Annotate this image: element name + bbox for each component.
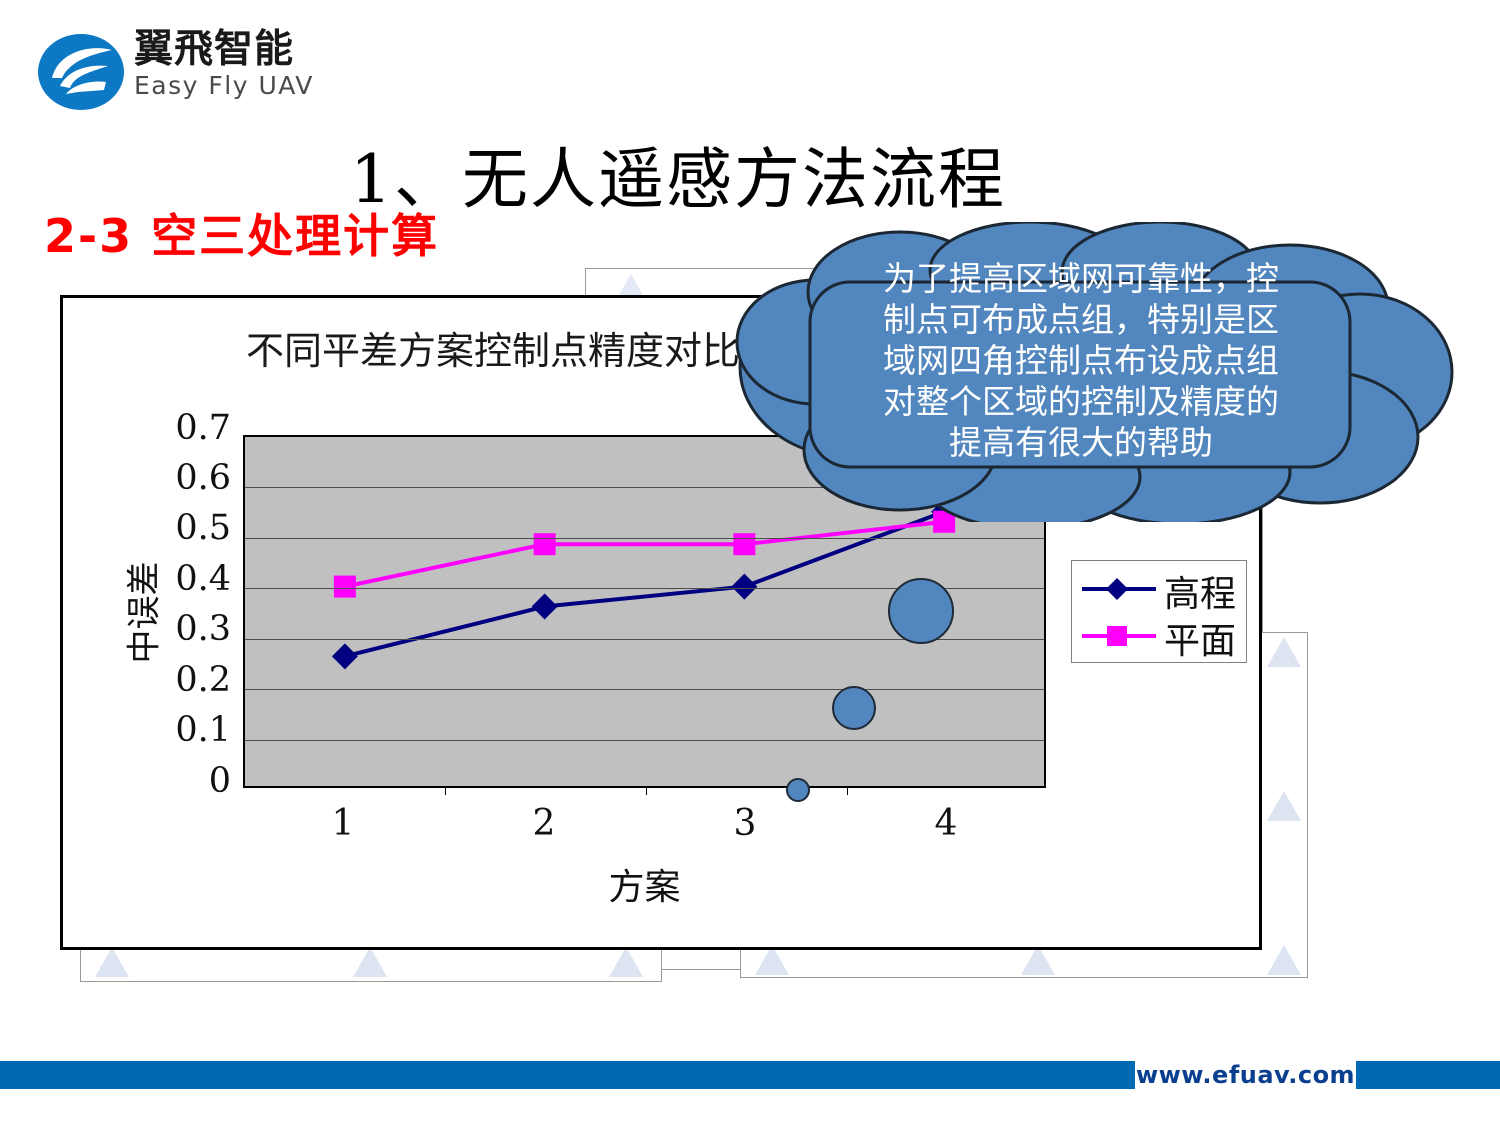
gridline [245, 740, 1044, 741]
x-axis-ticks: 1 2 3 4 [243, 803, 1046, 853]
footer-bar-right [1356, 1061, 1500, 1089]
triangle-icon [1267, 791, 1301, 821]
callout-tail-bubble-small [786, 778, 810, 802]
legend-label: 高程 [1164, 565, 1236, 617]
decor-panel-bottom [80, 948, 662, 982]
y-tick-label: 0.2 [175, 660, 231, 700]
page-title: 1、无人遥感方法流程 [350, 126, 1006, 222]
triangle-icon [1267, 637, 1301, 667]
page-subtitle: 2-3 空三处理计算 [44, 200, 439, 266]
easyfly-uav-logo-icon [38, 32, 124, 112]
brand-name-cn: 翼飛智能 [134, 28, 334, 72]
gridline [245, 538, 1044, 539]
y-tick-label: 0.5 [175, 508, 231, 548]
x-tickmark [445, 786, 446, 795]
triangle-icon [1267, 945, 1301, 975]
triangle-icon [95, 947, 129, 977]
y-tick-label: 0.7 [175, 408, 231, 448]
callout-line: 对整个区域的控制及精度的 [796, 381, 1366, 422]
y-tick-label: 0.3 [175, 609, 231, 649]
callout-line: 为了提高区域网可靠性，控 [796, 258, 1366, 299]
y-axis-title: 中误差 [117, 513, 166, 713]
callout-cloud: 为了提高区域网可靠性，控 制点可布成点组，特别是区 域网四角控制点布设成点组 对… [700, 222, 1460, 522]
callout-line: 域网四角控制点布设成点组 [796, 340, 1366, 381]
legend-label: 平面 [1164, 612, 1236, 664]
x-tick-label: 4 [896, 803, 996, 844]
footer-bar-left [0, 1061, 1135, 1089]
brand-name-en: Easy Fly UAV [134, 72, 334, 100]
chart-marker-diamond [332, 643, 358, 669]
x-tick-label: 1 [293, 803, 393, 844]
callout-line: 制点可布成点组，特别是区 [796, 299, 1366, 340]
legend-item-elevation[interactable]: 高程 [1072, 567, 1246, 611]
callout-text: 为了提高区域网可靠性，控 制点可布成点组，特别是区 域网四角控制点布设成点组 对… [796, 258, 1366, 463]
x-tick-label: 2 [494, 803, 594, 844]
triangle-icon [353, 947, 387, 977]
y-tick-label: 0.4 [175, 559, 231, 599]
legend-item-plane[interactable]: 平面 [1072, 614, 1246, 658]
legend-square-marker-icon [1105, 624, 1129, 648]
chart-marker-square [334, 576, 356, 598]
x-tickmark [646, 786, 647, 795]
callout-tail-bubble-medium [832, 686, 876, 730]
brand-logo-text: 翼飛智能 Easy Fly UAV [134, 28, 334, 100]
x-tick-label: 3 [695, 803, 795, 844]
callout-tail-bubble-large [888, 578, 954, 644]
triangle-icon [609, 947, 643, 977]
callout-line: 提高有很大的帮助 [796, 422, 1366, 463]
gridline [245, 689, 1044, 690]
x-axis-title: 方案 [243, 858, 1046, 910]
chart-marker-square [534, 533, 556, 555]
brand-logo: 翼飛智能 Easy Fly UAV [38, 26, 338, 121]
chart-marker-diamond [731, 574, 757, 600]
legend-diamond-marker-icon [1105, 577, 1129, 601]
y-tick-label: 0.1 [175, 710, 231, 750]
y-tick-label: 0 [209, 761, 231, 801]
chart-marker-square [733, 533, 755, 555]
footer-url[interactable]: www.efuav.com [1135, 1061, 1356, 1089]
chart-line-平面 [345, 522, 944, 587]
y-tick-label: 0.6 [175, 458, 231, 498]
chart-legend: 高程 平面 [1071, 560, 1247, 663]
x-tickmark [847, 786, 848, 795]
chart-marker-diamond [532, 594, 558, 620]
